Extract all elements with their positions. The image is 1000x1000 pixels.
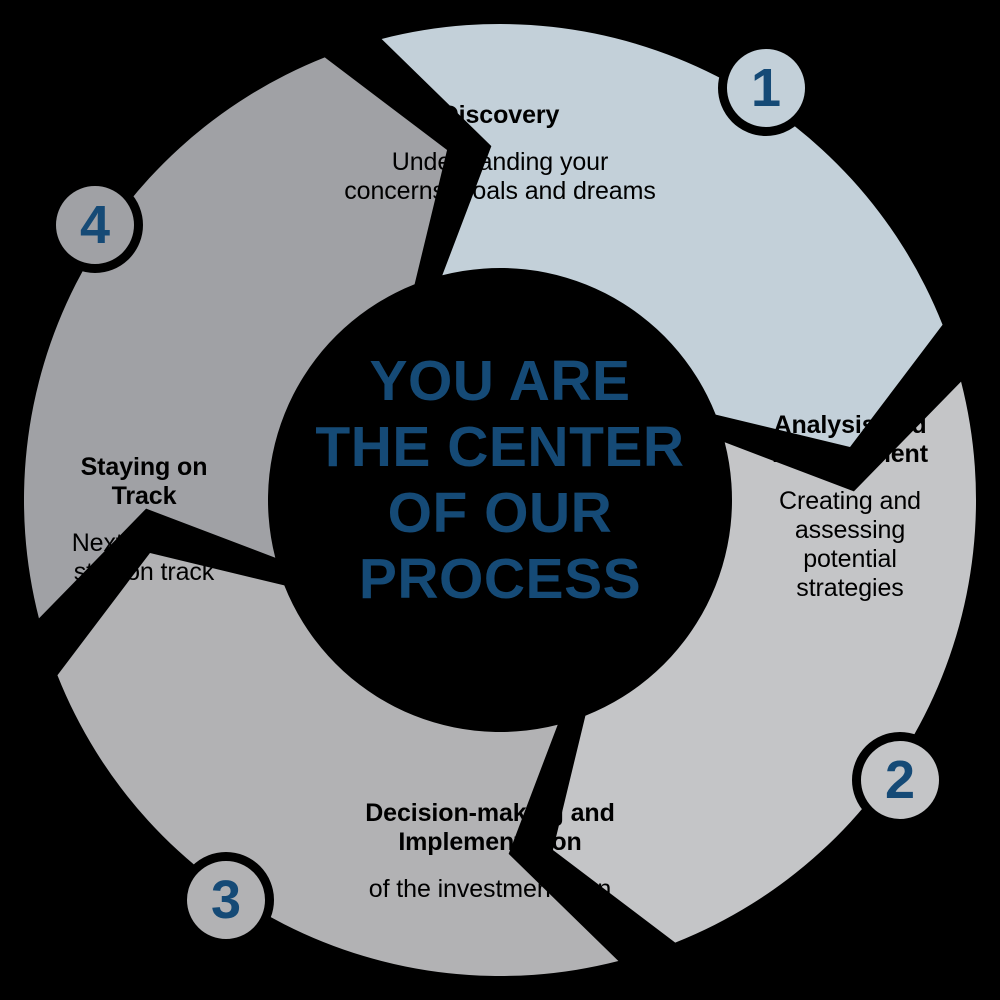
step-badge-3: 3: [178, 852, 274, 948]
process-ring-graphic: [0, 0, 1000, 1000]
step-badge-4: 4: [47, 177, 143, 273]
step-badge-1: 1: [718, 40, 814, 136]
step-badge-2: 2: [852, 732, 948, 828]
center-hub-circle: [284, 284, 716, 716]
circular-process-diagram: Discovery Understanding your concerns, g…: [0, 0, 1000, 1000]
